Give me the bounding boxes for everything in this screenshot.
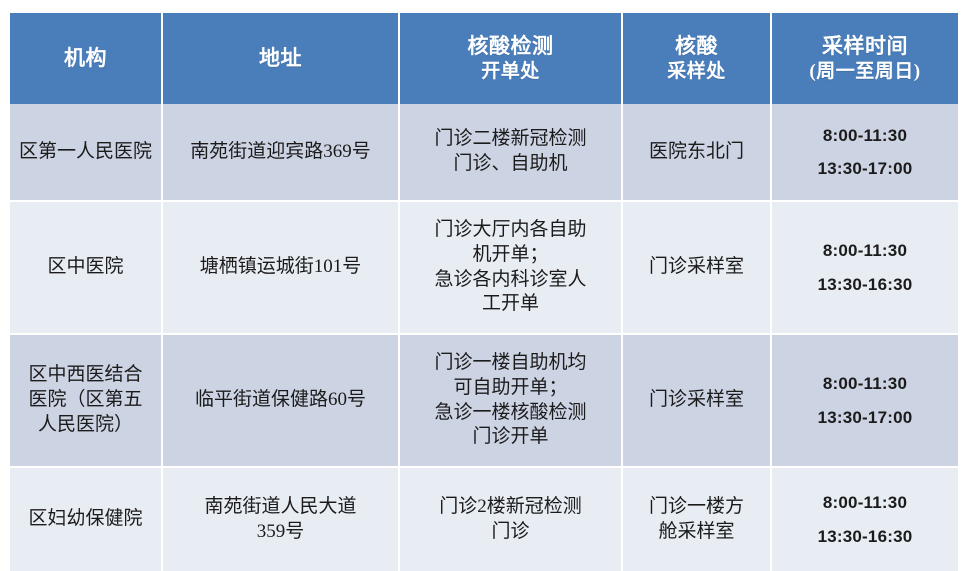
column-header-sampling-place: 核酸 采样处 xyxy=(623,13,772,104)
address-line: 359号 xyxy=(169,520,392,545)
cell-sampling-place: 门诊一楼方 舱采样室 xyxy=(623,468,772,571)
column-header-sampling-time-sublabel: (周一至周日) xyxy=(776,60,954,84)
address-text: 临平街道保健路60号 xyxy=(169,388,392,413)
table-row: 区妇幼保健院 南苑街道人民大道 359号 门诊2楼新冠检测 门诊 门诊一楼方 舱… xyxy=(10,468,958,571)
sampling-time-line: 13:30-17:00 xyxy=(778,152,952,185)
cell-organization: 区中医院 xyxy=(10,202,163,335)
address-text: 塘栖镇运城街101号 xyxy=(169,255,392,280)
cell-order-place: 门诊大厅内各自助 机开单； 急诊各内科诊室人 工开单 xyxy=(400,202,623,335)
sampling-place-line: 门诊采样室 xyxy=(629,255,764,280)
table-row: 区中西医结合 医院（区第五 人民医院） 临平街道保健路60号 门诊一楼自助机均 … xyxy=(10,335,958,468)
table-header: 机构 地址 核酸检测 开单处 核酸 采样处 采样时间 (周一至周日) xyxy=(10,13,958,104)
sampling-time-line: 8:00-11:30 xyxy=(778,486,952,519)
sampling-time-line: 8:00-11:30 xyxy=(778,367,952,400)
column-header-order-place: 核酸检测 开单处 xyxy=(400,13,623,104)
order-place-line: 工开单 xyxy=(406,292,615,317)
organization-name-line: 医院（区第五 xyxy=(16,388,155,413)
table-header-row: 机构 地址 核酸检测 开单处 核酸 采样处 采样时间 (周一至周日) xyxy=(10,13,958,104)
column-header-sampling-time-label: 采样时间 xyxy=(822,34,908,58)
column-header-order-place-label: 核酸检测 xyxy=(468,34,554,58)
cell-address: 南苑街道人民大道 359号 xyxy=(163,468,400,571)
sampling-time-line: 8:00-11:30 xyxy=(778,234,952,267)
organization-name-line: 人民医院） xyxy=(16,413,155,438)
organization-name-line: 区中西医结合 xyxy=(16,363,155,388)
organization-name: 区妇幼保健院 xyxy=(16,507,155,532)
cell-organization: 区中西医结合 医院（区第五 人民医院） xyxy=(10,335,163,468)
column-header-sampling-time: 采样时间 (周一至周日) xyxy=(772,13,958,104)
column-header-sampling-place-sublabel: 采样处 xyxy=(627,60,766,84)
cell-organization: 区妇幼保健院 xyxy=(10,468,163,571)
order-place-line: 门诊、自助机 xyxy=(406,152,615,177)
sampling-time-line: 13:30-16:30 xyxy=(778,268,952,301)
sampling-time-line: 8:00-11:30 xyxy=(778,119,952,152)
nucleic-acid-testing-schedule-table-container: 机构 地址 核酸检测 开单处 核酸 采样处 采样时间 (周一至周日) xyxy=(10,13,958,538)
cell-address: 塘栖镇运城街101号 xyxy=(163,202,400,335)
order-place-line: 门诊二楼新冠检测 xyxy=(406,127,615,152)
column-header-address: 地址 xyxy=(163,13,400,104)
nucleic-acid-testing-schedule-table: 机构 地址 核酸检测 开单处 核酸 采样处 采样时间 (周一至周日) xyxy=(10,13,958,571)
address-line: 南苑街道人民大道 xyxy=(169,495,392,520)
sampling-place-line: 门诊采样室 xyxy=(629,388,764,413)
table-row: 区中医院 塘栖镇运城街101号 门诊大厅内各自助 机开单； 急诊各内科诊室人 工… xyxy=(10,202,958,335)
order-place-line: 门诊一楼自助机均 xyxy=(406,351,615,376)
order-place-line: 机开单； xyxy=(406,243,615,268)
sampling-time-line: 13:30-16:30 xyxy=(778,520,952,553)
table-row: 区第一人民医院 南苑街道迎宾路369号 门诊二楼新冠检测 门诊、自助机 医院东北… xyxy=(10,104,958,202)
order-place-line: 门诊2楼新冠检测 xyxy=(406,495,615,520)
cell-sampling-time: 8:00-11:30 13:30-16:30 xyxy=(772,468,958,571)
cell-sampling-time: 8:00-11:30 13:30-17:00 xyxy=(772,335,958,468)
order-place-line: 急诊一楼核酸检测 xyxy=(406,401,615,426)
sampling-place-line: 门诊一楼方 xyxy=(629,495,764,520)
cell-address: 临平街道保健路60号 xyxy=(163,335,400,468)
table-body: 区第一人民医院 南苑街道迎宾路369号 门诊二楼新冠检测 门诊、自助机 医院东北… xyxy=(10,104,958,571)
order-place-line: 门诊 xyxy=(406,520,615,545)
cell-address: 南苑街道迎宾路369号 xyxy=(163,104,400,202)
address-text: 南苑街道迎宾路369号 xyxy=(169,140,392,165)
column-header-organization-label: 机构 xyxy=(64,46,107,70)
cell-order-place: 门诊2楼新冠检测 门诊 xyxy=(400,468,623,571)
column-header-address-label: 地址 xyxy=(259,46,302,70)
cell-sampling-place: 医院东北门 xyxy=(623,104,772,202)
sampling-place-line: 医院东北门 xyxy=(629,140,764,165)
cell-sampling-time: 8:00-11:30 13:30-16:30 xyxy=(772,202,958,335)
cell-order-place: 门诊二楼新冠检测 门诊、自助机 xyxy=(400,104,623,202)
cell-sampling-time: 8:00-11:30 13:30-17:00 xyxy=(772,104,958,202)
cell-organization: 区第一人民医院 xyxy=(10,104,163,202)
organization-name: 区中医院 xyxy=(16,255,155,280)
order-place-line: 门诊大厅内各自助 xyxy=(406,218,615,243)
column-header-sampling-place-label: 核酸 xyxy=(675,34,718,58)
column-header-organization: 机构 xyxy=(10,13,163,104)
order-place-line: 急诊各内科诊室人 xyxy=(406,268,615,293)
cell-sampling-place: 门诊采样室 xyxy=(623,335,772,468)
sampling-place-line: 舱采样室 xyxy=(629,520,764,545)
sampling-time-line: 13:30-17:00 xyxy=(778,401,952,434)
order-place-line: 可自助开单； xyxy=(406,376,615,401)
organization-name: 区第一人民医院 xyxy=(16,140,155,165)
cell-sampling-place: 门诊采样室 xyxy=(623,202,772,335)
order-place-line: 门诊开单 xyxy=(406,425,615,450)
column-header-order-place-sublabel: 开单处 xyxy=(404,60,617,84)
cell-order-place: 门诊一楼自助机均 可自助开单； 急诊一楼核酸检测 门诊开单 xyxy=(400,335,623,468)
